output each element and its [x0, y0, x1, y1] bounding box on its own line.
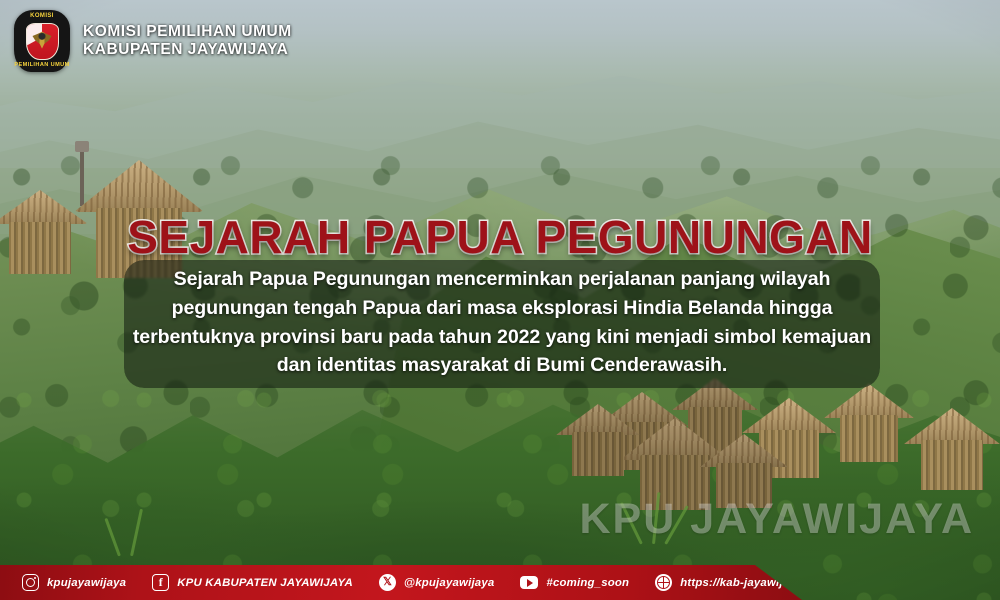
social-label-x: @kpujayawijaya [404, 577, 495, 589]
hut-roof [824, 384, 914, 418]
globe-icon [655, 574, 672, 591]
hut-wall [921, 440, 983, 490]
social-label-instagram: kpujayawijaya [47, 577, 126, 589]
brand-header: KOMISI PEMILIHAN UMUM KOMISI PEMILIHAN U… [14, 10, 292, 72]
honai-hut [700, 434, 788, 508]
youtube-icon [520, 576, 538, 589]
hut-wall [572, 432, 624, 476]
instagram-icon [22, 574, 39, 591]
social-item-facebook[interactable]: KPU KABUPATEN JAYAWIJAYA [152, 574, 353, 591]
social-label-facebook: KPU KABUPATEN JAYAWIJAYA [177, 577, 353, 589]
organization-name-line1: KOMISI PEMILIHAN UMUM [83, 23, 292, 41]
organization-name-line2: KABUPATEN JAYAWIJAYA [83, 41, 292, 59]
poster-body-text: Sejarah Papua Pegunungan mencerminkan pe… [130, 265, 874, 380]
logo-ring-top-label: KOMISI [30, 13, 54, 19]
social-label-youtube: #coming_soon [546, 577, 629, 589]
honai-hut [904, 408, 1000, 490]
footer-social-bar: kpujayawijaya KPU KABUPATEN JAYAWIJAYA @… [0, 565, 802, 600]
social-item-instagram[interactable]: kpujayawijaya [22, 574, 126, 591]
poster-title: SEJARAH PAPUA PEGUNUNGAN [0, 210, 1000, 264]
garuda-shield-icon [26, 23, 59, 60]
hut-roof [74, 160, 204, 212]
social-item-x[interactable]: @kpujayawijaya [379, 574, 495, 591]
honai-hut [824, 384, 914, 462]
hut-wall [840, 415, 898, 462]
social-item-youtube[interactable]: #coming_soon [520, 576, 629, 589]
hut-roof [742, 398, 836, 433]
x-twitter-icon [379, 574, 396, 591]
kpu-logo-icon: KOMISI PEMILIHAN UMUM [14, 10, 70, 72]
garuda-bird-icon [33, 32, 52, 49]
hut-roof [556, 404, 640, 435]
brand-title-block: KOMISI PEMILIHAN UMUM KABUPATEN JAYAWIJA… [83, 23, 292, 60]
hut-roof [904, 408, 1000, 444]
poster-canvas: KOMISI PEMILIHAN UMUM KOMISI PEMILIHAN U… [0, 0, 1000, 600]
honai-hut [556, 404, 640, 476]
logo-ring-bottom-label: PEMILIHAN UMUM [14, 62, 69, 68]
facebook-icon [152, 574, 169, 591]
hut-wall [716, 463, 772, 508]
